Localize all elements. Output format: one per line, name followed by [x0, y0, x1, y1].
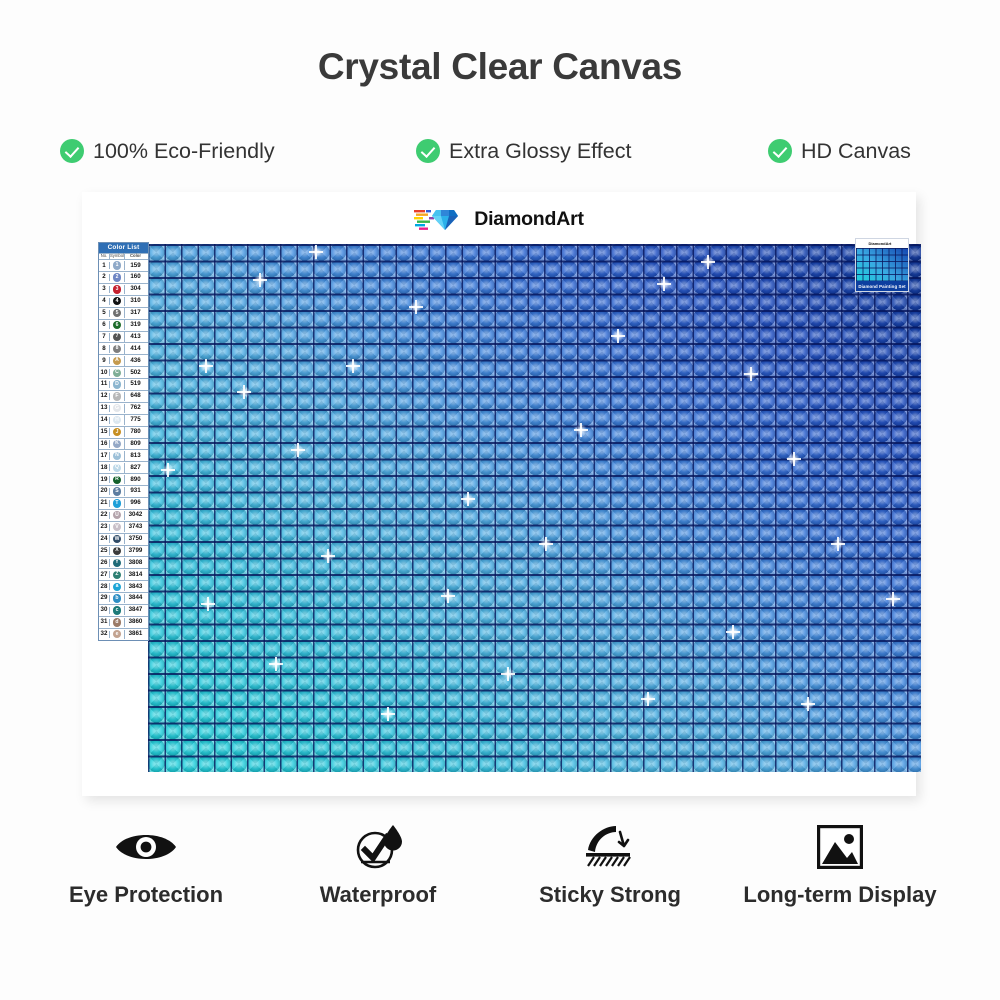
color-row-symbol: A	[110, 356, 125, 365]
color-row-no: 22	[99, 512, 110, 519]
color-row-symbol: Q	[110, 463, 125, 472]
check-circle-icon	[416, 139, 440, 163]
color-row-symbol: C	[110, 368, 125, 377]
symbol-swatch: S	[113, 487, 121, 495]
color-row-code: 827	[125, 464, 146, 471]
color-row-no: 16	[99, 440, 110, 447]
color-row-code: 775	[125, 417, 146, 424]
symbol-swatch: D	[113, 380, 121, 388]
color-row-code: 3861	[125, 631, 146, 638]
color-list-row: 66319	[99, 319, 148, 331]
page-title: Crystal Clear Canvas	[0, 46, 1000, 88]
diamond-logo-icon	[858, 241, 867, 246]
color-list-row: 77413	[99, 331, 148, 343]
feature-long-term-display: Long-term Display	[720, 824, 960, 908]
color-row-no: 8	[99, 345, 110, 352]
color-row-code: 3808	[125, 559, 146, 566]
col-header-symbol: Symbol	[110, 254, 125, 259]
color-row-symbol: D	[110, 380, 125, 389]
symbol-swatch: W	[113, 535, 121, 543]
brand-name: DiamondArt	[474, 208, 584, 231]
symbol-swatch: G	[113, 404, 121, 412]
color-row-no: 15	[99, 428, 110, 435]
col-header-color: Color	[125, 254, 146, 259]
bullet-item: Extra Glossy Effect	[416, 132, 631, 170]
color-row-code: 890	[125, 476, 146, 483]
color-list-row: 26Y3808	[99, 556, 148, 568]
color-row-symbol: 3	[110, 285, 125, 294]
color-row-symbol: e	[110, 630, 125, 639]
color-row-code: 3042	[125, 512, 146, 519]
symbol-swatch: N	[113, 452, 121, 460]
waterdrop-check-icon	[258, 824, 498, 870]
color-list-row: 23V3743	[99, 521, 148, 533]
feature-sticky-strong: Sticky Strong	[490, 824, 730, 908]
color-list-row: 25X3799	[99, 545, 148, 557]
feature-label: Eye Protection	[26, 882, 266, 908]
symbol-swatch: T	[113, 499, 121, 507]
color-row-symbol: G	[110, 404, 125, 413]
color-list-body: 1115922160333044431055317663197741388414…	[99, 259, 148, 640]
color-row-symbol: F	[110, 392, 125, 401]
color-row-code: 160	[125, 274, 146, 281]
preview-inset-header: DiamondArt	[856, 239, 908, 248]
feature-label: Long-term Display	[720, 882, 960, 908]
symbol-swatch: d	[113, 618, 121, 626]
picture-icon	[720, 824, 960, 870]
color-list-row: 22160	[99, 271, 148, 283]
color-row-code: 317	[125, 310, 146, 317]
bullet-label: 100% Eco-Friendly	[93, 139, 275, 164]
color-row-no: 30	[99, 607, 110, 614]
color-row-no: 28	[99, 583, 110, 590]
color-row-symbol: 8	[110, 344, 125, 353]
color-row-symbol: K	[110, 439, 125, 448]
preview-inset-artwork	[856, 248, 908, 281]
feature-eye-protection: Eye Protection	[26, 824, 266, 908]
color-row-code: 931	[125, 488, 146, 495]
color-list-row: 18Q827	[99, 461, 148, 473]
symbol-swatch: 6	[113, 321, 121, 329]
feature-label: Waterproof	[258, 882, 498, 908]
feature-row: Eye Protection Waterproof	[0, 824, 1000, 934]
color-row-code: 159	[125, 262, 146, 269]
symbol-swatch: X	[113, 547, 121, 555]
color-list-row: 24W3750	[99, 533, 148, 545]
symbol-swatch: 3	[113, 285, 121, 293]
color-row-code: 3844	[125, 595, 146, 602]
color-row-code: 996	[125, 500, 146, 507]
color-row-code: 414	[125, 345, 146, 352]
color-row-no: 9	[99, 357, 110, 364]
color-list-row: 14H775	[99, 414, 148, 426]
color-row-symbol: 5	[110, 308, 125, 317]
color-list-row: 19R890	[99, 473, 148, 485]
color-row-code: 3847	[125, 607, 146, 614]
symbol-swatch: 5	[113, 309, 121, 317]
color-row-no: 29	[99, 595, 110, 602]
color-row-symbol: 4	[110, 297, 125, 306]
symbol-swatch: V	[113, 523, 121, 531]
color-row-code: 502	[125, 369, 146, 376]
color-row-symbol: d	[110, 618, 125, 627]
color-row-no: 11	[99, 381, 110, 388]
color-row-symbol: b	[110, 594, 125, 603]
color-list-row: 27Z3814	[99, 568, 148, 580]
bullet-item: 100% Eco-Friendly	[60, 132, 275, 170]
color-row-symbol: X	[110, 546, 125, 555]
symbol-swatch: A	[113, 357, 121, 365]
color-row-code: 762	[125, 405, 146, 412]
color-row-no: 17	[99, 452, 110, 459]
color-row-symbol: 6	[110, 320, 125, 329]
color-list-row: 33304	[99, 283, 148, 295]
symbol-swatch: F	[113, 392, 121, 400]
color-list-row: 17N813	[99, 449, 148, 461]
color-row-no: 5	[99, 310, 110, 317]
color-row-code: 3860	[125, 619, 146, 626]
color-list-row: 55317	[99, 307, 148, 319]
symbol-swatch: a	[113, 583, 121, 591]
color-list-row: 11D519	[99, 378, 148, 390]
symbol-swatch: b	[113, 594, 121, 602]
col-header-no: No.	[99, 254, 110, 259]
symbol-swatch: H	[113, 416, 121, 424]
symbol-swatch: 1	[113, 261, 121, 269]
preview-grid-overlay	[856, 248, 908, 281]
adhesive-icon	[490, 824, 730, 870]
color-row-code: 3814	[125, 571, 146, 578]
color-row-code: 304	[125, 286, 146, 293]
color-row-no: 20	[99, 488, 110, 495]
diamond-mosaic-artwork	[148, 244, 921, 772]
color-row-symbol: Y	[110, 558, 125, 567]
color-row-symbol: N	[110, 451, 125, 460]
check-circle-icon	[768, 139, 792, 163]
color-row-no: 27	[99, 571, 110, 578]
color-row-no: 4	[99, 298, 110, 305]
color-row-symbol: 1	[110, 261, 125, 270]
color-list-row: 32e3861	[99, 628, 148, 640]
color-row-code: 519	[125, 381, 146, 388]
color-row-no: 26	[99, 559, 110, 566]
color-row-code: 813	[125, 452, 146, 459]
symbol-swatch: 7	[113, 333, 121, 341]
color-row-symbol: Z	[110, 570, 125, 579]
check-circle-icon	[60, 139, 84, 163]
symbol-swatch: C	[113, 369, 121, 377]
color-row-code: 310	[125, 298, 146, 305]
color-list-row: 20S931	[99, 485, 148, 497]
color-list-row: 28a3843	[99, 580, 148, 592]
color-list-header-row: No. Symbol Color	[99, 253, 148, 259]
symbol-swatch: Q	[113, 464, 121, 472]
feature-bullets: 100% Eco-Friendly Extra Glossy Effect HD…	[0, 132, 1000, 170]
color-row-code: 319	[125, 321, 146, 328]
product-canvas-card: DiamondArt	[82, 192, 916, 796]
color-row-no: 24	[99, 535, 110, 542]
color-list-row: 15J780	[99, 426, 148, 438]
package-preview-inset: DiamondArt Diamond Painting Set	[855, 238, 909, 292]
brand-logo: DiamondArt	[82, 204, 916, 234]
color-row-no: 6	[99, 321, 110, 328]
diamond-logo-icon	[414, 206, 466, 232]
color-row-symbol: V	[110, 522, 125, 531]
color-row-no: 14	[99, 417, 110, 424]
color-list-row: 31d3860	[99, 616, 148, 628]
color-row-code: 3799	[125, 547, 146, 554]
color-list-row: 44310	[99, 295, 148, 307]
symbol-swatch: U	[113, 511, 121, 519]
bullet-item: HD Canvas	[768, 132, 911, 170]
color-row-no: 7	[99, 333, 110, 340]
color-row-code: 3843	[125, 583, 146, 590]
color-row-symbol: U	[110, 511, 125, 520]
color-row-symbol: c	[110, 606, 125, 615]
color-list-row: 16K809	[99, 438, 148, 450]
color-row-code: 648	[125, 393, 146, 400]
color-list-row: 12F648	[99, 390, 148, 402]
color-row-symbol: J	[110, 427, 125, 436]
color-row-symbol: T	[110, 499, 125, 508]
symbol-swatch: 4	[113, 297, 121, 305]
symbol-swatch: K	[113, 440, 121, 448]
color-row-no: 32	[99, 631, 110, 638]
bullet-label: HD Canvas	[801, 139, 911, 164]
color-row-no: 25	[99, 547, 110, 554]
color-list-title: Color List	[99, 243, 148, 253]
symbol-swatch: J	[113, 428, 121, 436]
color-row-symbol: a	[110, 582, 125, 591]
color-row-code: 3743	[125, 524, 146, 531]
color-row-no: 21	[99, 500, 110, 507]
eye-icon	[26, 824, 266, 870]
color-list-row: 9A436	[99, 354, 148, 366]
color-row-symbol: 2	[110, 273, 125, 282]
color-list-row: 88414	[99, 342, 148, 354]
color-list-row: 30c3847	[99, 604, 148, 616]
color-row-no: 1	[99, 262, 110, 269]
preview-inset-caption: Diamond Painting Set	[856, 281, 908, 291]
symbol-swatch: Z	[113, 571, 121, 579]
color-row-no: 31	[99, 619, 110, 626]
color-list-table: Color List No. Symbol Color 111592216033…	[98, 242, 149, 641]
symbol-swatch: R	[113, 476, 121, 484]
color-row-no: 10	[99, 369, 110, 376]
color-row-no: 3	[99, 286, 110, 293]
bullet-label: Extra Glossy Effect	[449, 139, 631, 164]
color-row-code: 809	[125, 440, 146, 447]
color-list-row: 21T996	[99, 497, 148, 509]
color-row-code: 413	[125, 333, 146, 340]
color-row-symbol: S	[110, 487, 125, 496]
color-row-no: 12	[99, 393, 110, 400]
color-row-symbol: 7	[110, 332, 125, 341]
color-row-symbol: H	[110, 415, 125, 424]
color-row-symbol: W	[110, 534, 125, 543]
color-row-no: 13	[99, 405, 110, 412]
color-list-row: 29b3844	[99, 592, 148, 604]
feature-label: Sticky Strong	[490, 882, 730, 908]
color-row-no: 23	[99, 524, 110, 531]
color-row-code: 3750	[125, 535, 146, 542]
mosaic-grid-overlay	[148, 244, 921, 772]
preview-brand-name: DiamondArt	[869, 241, 892, 246]
color-list-row: 13G762	[99, 402, 148, 414]
color-row-no: 2	[99, 274, 110, 281]
symbol-swatch: 8	[113, 345, 121, 353]
symbol-swatch: 2	[113, 273, 121, 281]
color-row-code: 780	[125, 428, 146, 435]
symbol-swatch: Y	[113, 559, 121, 567]
color-list-row: 10C502	[99, 366, 148, 378]
color-row-no: 18	[99, 464, 110, 471]
color-list-row: 11159	[99, 259, 148, 271]
color-row-code: 436	[125, 357, 146, 364]
color-list-row: 22U3042	[99, 509, 148, 521]
symbol-swatch: c	[113, 606, 121, 614]
color-row-no: 19	[99, 476, 110, 483]
symbol-swatch: e	[113, 630, 121, 638]
color-row-symbol: R	[110, 475, 125, 484]
feature-waterproof: Waterproof	[258, 824, 498, 908]
